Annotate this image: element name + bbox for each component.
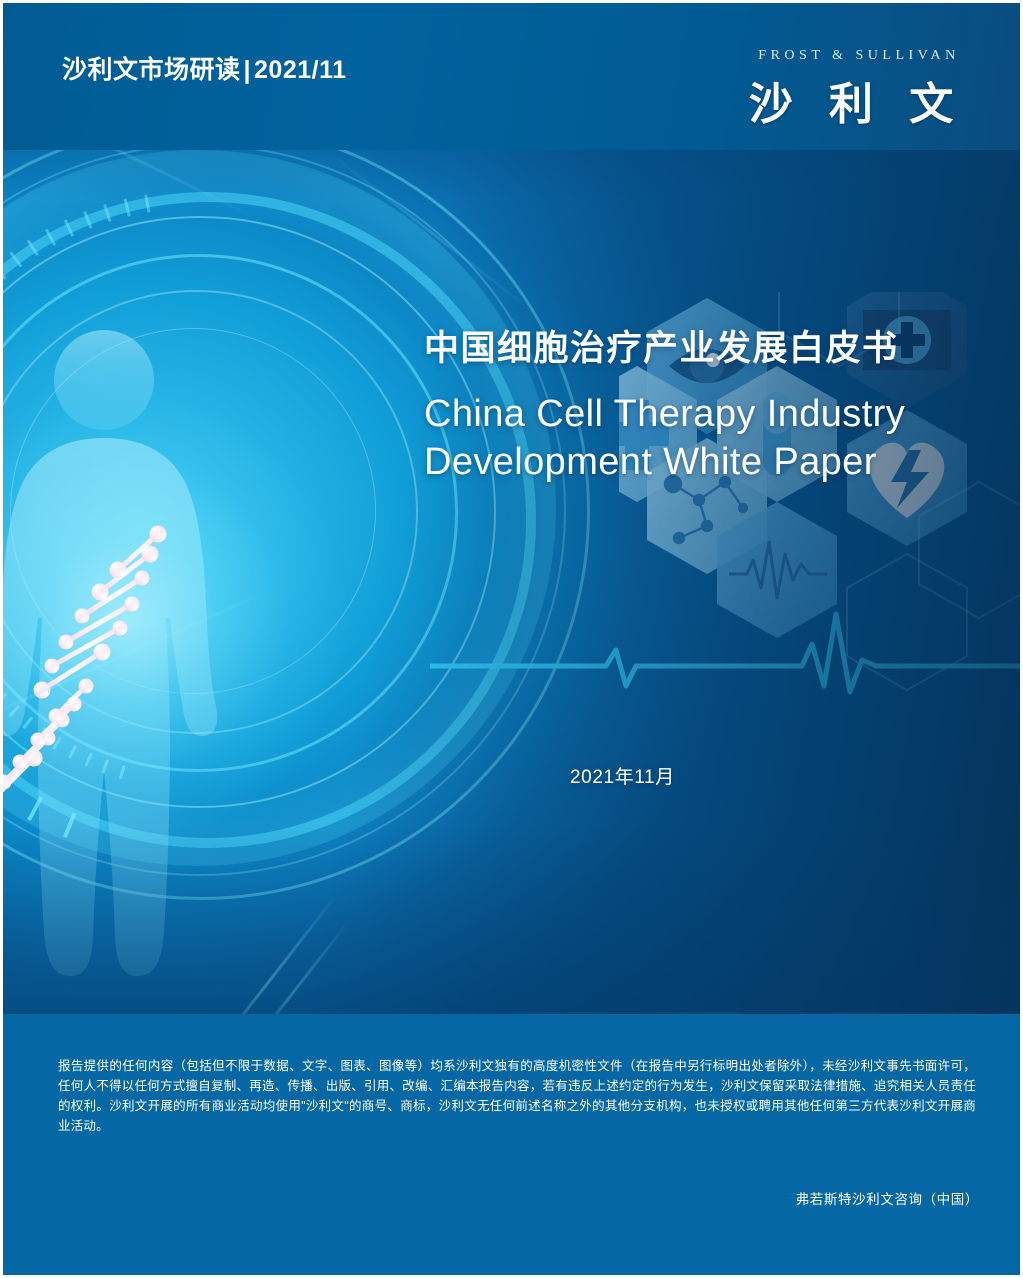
hud-tick bbox=[103, 204, 111, 222]
logo-brand-cn: 沙 利 文 bbox=[737, 68, 977, 132]
title-block: 中国细胞治疗产业发展白皮书 China Cell Therapy Industr… bbox=[424, 326, 984, 486]
legal-disclaimer: 报告提供的任何内容（包括但不限于数据、文字、图表、图像等）均系沙利文独有的高度机… bbox=[58, 1056, 976, 1136]
page-title-en-line1: China Cell Therapy Industry bbox=[424, 390, 984, 438]
report-issue-label: 2021/11 bbox=[254, 56, 347, 84]
publication-date: 2021年11月 bbox=[570, 762, 675, 789]
hud-tick bbox=[64, 219, 74, 237]
hud-tick bbox=[144, 194, 150, 212]
hud-tick bbox=[45, 229, 56, 246]
document-cover-page: 沙利文市场研读|2021/11 FROST & SULLIVAN 沙 利 文 中… bbox=[0, 0, 1023, 1278]
page-title-en-line2: Development White Paper bbox=[424, 438, 984, 486]
hud-tick bbox=[124, 198, 131, 216]
logo-brand-en: FROST & SULLIVAN bbox=[741, 48, 977, 64]
dna-helix-icon bbox=[0, 500, 212, 830]
footer-panel: 报告提供的任何内容（包括但不限于数据、文字、图表、图像等）均系沙利文独有的高度机… bbox=[0, 1014, 1023, 1278]
ecg-line-icon bbox=[430, 590, 1023, 720]
report-series-line: 沙利文市场研读|2021/11 bbox=[62, 50, 347, 86]
hud-tick bbox=[0, 264, 7, 280]
hud-tick bbox=[9, 251, 22, 267]
report-series-label: 沙利文市场研读 bbox=[62, 56, 241, 84]
report-series-separator: | bbox=[241, 56, 255, 84]
frost-sullivan-logo: FROST & SULLIVAN 沙 利 文 bbox=[737, 48, 977, 132]
hud-tick bbox=[27, 239, 39, 256]
hero-artwork: 沙利文市场研读|2021/11 FROST & SULLIVAN 沙 利 文 中… bbox=[0, 0, 1023, 1014]
organization-name: 弗若斯特沙利文咨询（中国） bbox=[796, 1188, 979, 1208]
hud-tick bbox=[83, 211, 92, 229]
page-title-cn: 中国细胞治疗产业发展白皮书 bbox=[424, 326, 984, 372]
page-title-en: China Cell Therapy Industry Development … bbox=[424, 390, 984, 486]
